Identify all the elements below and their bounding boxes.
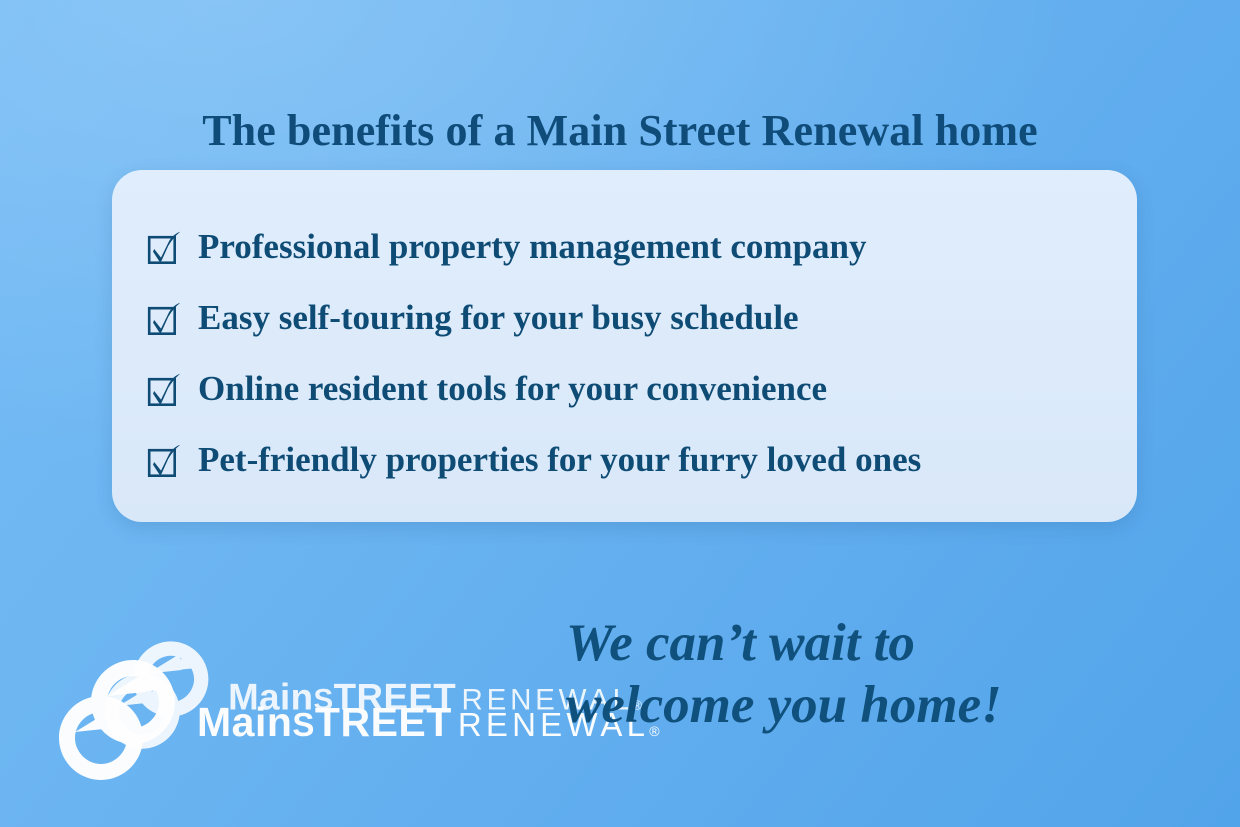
checked-checkbox-icon [147,231,181,265]
benefit-label: Easy self-touring for your busy schedule [198,300,799,337]
tagline-line-1: We can’t wait to [566,612,1186,674]
checked-checkbox-icon [147,302,181,336]
benefit-label: Professional property management company [198,229,867,266]
list-item: Online resident tools for your convenien… [147,354,1113,425]
list-item: Professional property management company [147,212,1113,283]
brand-logo-front-copy: MainSTREET RENEWAL® [55,654,525,786]
brand-logo: MainSTREET RENEWAL® [55,628,525,793]
list-item: Pet-friendly properties for your furry l… [147,425,1113,496]
benefits-card: Professional property management company… [112,170,1137,522]
checked-checkbox-icon [147,373,181,407]
tagline-line-2: welcome you home! [566,674,1186,736]
page-title: The benefits of a Main Street Renewal ho… [0,105,1240,156]
benefit-label: Pet-friendly properties for your furry l… [198,442,921,479]
tagline: We can’t wait to welcome you home! [566,612,1186,736]
interlocking-rings-logo-mark [55,654,185,786]
brand-wordmark-main: MainSTREET [197,699,452,745]
list-item: Easy self-touring for your busy schedule [147,283,1113,354]
checked-checkbox-icon [147,444,181,478]
benefit-label: Online resident tools for your convenien… [198,371,827,408]
promotional-poster: The benefits of a Main Street Renewal ho… [0,0,1240,827]
benefits-list: Professional property management company… [147,212,1113,496]
